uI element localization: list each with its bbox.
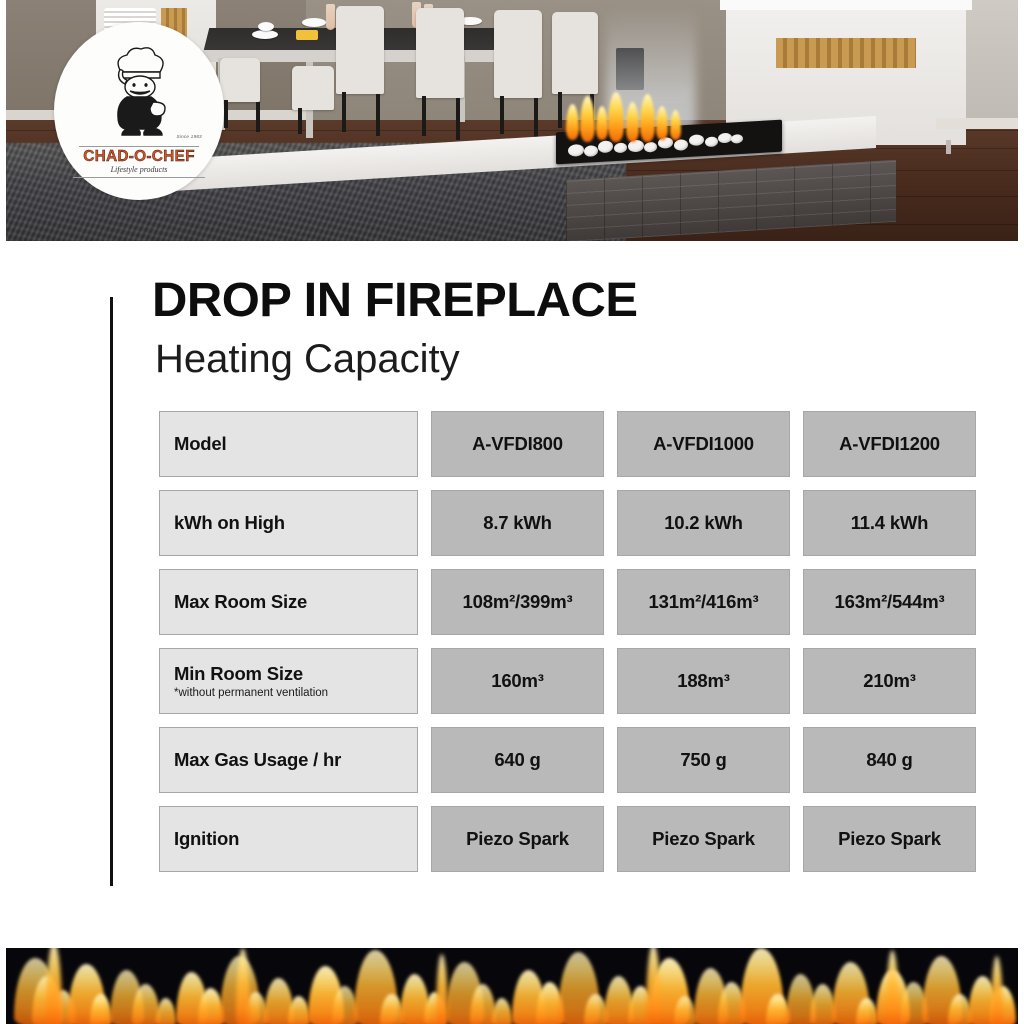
value-cell: 131m²/416m³ [617,569,790,635]
value-cell: Piezo Spark [431,806,604,872]
row-label-cell: Max Room Size [159,569,418,635]
dining-chair [220,58,260,102]
value-text: 10.2 kWh [664,512,743,534]
value-text: 8.7 kWh [483,512,552,534]
value-text: 131m²/416m³ [649,591,759,613]
champagne-glass [326,4,335,30]
bowl [258,22,274,31]
row-label-cell: Ignition [159,806,418,872]
row-label: kWh on High [174,512,285,534]
value-text: 163m²/544m³ [835,591,945,613]
value-text: A-VFDI800 [472,433,563,455]
dining-chair [292,66,334,110]
flame [436,954,448,1024]
row-label-cell: Min Room Size*without permanent ventilat… [159,648,418,714]
logo-since-text: Since 1983 [176,134,202,139]
row-label: Model [174,433,226,455]
left-accent-rule [110,297,113,886]
page-subtitle: Heating Capacity [155,337,460,381]
row-label-cell: kWh on High [159,490,418,556]
value-text: 840 g [866,749,912,771]
footer-flame-photo [6,948,1018,1024]
value-text: Piezo Spark [652,828,755,850]
value-cell: 163m²/544m³ [803,569,976,635]
product-spec-infographic: Since 1983 CHAD-O-CHEF Lifestyle product… [0,0,1024,1024]
plate [252,30,278,39]
table-row: kWh on High8.7 kWh10.2 kWh11.4 kWh [159,490,977,556]
logo-divider-bottom [73,177,205,178]
flame [886,950,899,1024]
flame [236,948,250,1024]
value-cell: 8.7 kWh [431,490,604,556]
wood-slat-panel-right [776,38,916,68]
table-row: ModelA-VFDI800A-VFDI1000A-VFDI1200 [159,411,977,477]
value-text: Piezo Spark [466,828,569,850]
value-text: 188m³ [677,670,729,692]
dining-chair [416,8,464,98]
hero-room-photo: Since 1983 CHAD-O-CHEF Lifestyle product… [6,0,1018,241]
skirting-board-right [936,118,1018,129]
value-text: A-VFDI1000 [653,433,754,455]
value-cell: Piezo Spark [617,806,790,872]
logo-tagline: Lifestyle products [111,165,168,174]
value-text: 210m³ [863,670,915,692]
value-cell: 11.4 kWh [803,490,976,556]
dining-chair [494,10,542,98]
value-cell: 108m²/399m³ [431,569,604,635]
food-plate [296,30,318,40]
chef-mascot-icon [91,46,187,142]
value-cell: A-VFDI800 [431,411,604,477]
value-text: A-VFDI1200 [839,433,940,455]
row-label: Min Room Size [174,663,303,685]
value-cell: 160m³ [431,648,604,714]
page-title: DROP IN FIREPLACE [152,277,638,325]
value-cell: 10.2 kWh [617,490,790,556]
logo-divider-top [79,146,199,147]
table-row: Max Gas Usage / hr640 g750 g840 g [159,727,977,793]
logo-wordmark: CHAD-O-CHEF [83,149,195,165]
value-cell: 210m³ [803,648,976,714]
flame [646,948,661,1024]
row-label: Max Gas Usage / hr [174,749,341,771]
dining-chair [336,6,384,94]
table-row: Max Room Size108m²/399m³131m²/416m³163m²… [159,569,977,635]
row-label: Max Room Size [174,591,307,613]
value-text: Piezo Spark [838,828,941,850]
value-text: 640 g [494,749,540,771]
value-cell: 840 g [803,727,976,793]
value-text: 750 g [680,749,726,771]
value-cell: A-VFDI1000 [617,411,790,477]
sideboard-counter-top [720,0,972,10]
brand-logo-badge: Since 1983 CHAD-O-CHEF Lifestyle product… [54,22,224,200]
flame [46,948,62,1024]
dining-chair [552,12,598,94]
flame [991,956,1003,1024]
table-row: IgnitionPiezo SparkPiezo SparkPiezo Spar… [159,806,977,872]
row-label-cell: Max Gas Usage / hr [159,727,418,793]
value-text: 11.4 kWh [851,512,929,534]
heating-capacity-table: ModelA-VFDI800A-VFDI1000A-VFDI1200kWh on… [159,411,977,885]
plate [302,18,326,27]
value-cell: A-VFDI1200 [803,411,976,477]
value-text: 160m³ [491,670,543,692]
value-text: 108m²/399m³ [463,591,573,613]
row-sublabel: *without permanent ventilation [174,687,328,699]
value-cell: 188m³ [617,648,790,714]
value-cell: 640 g [431,727,604,793]
value-cell: Piezo Spark [803,806,976,872]
row-label: Ignition [174,828,239,850]
row-label-cell: Model [159,411,418,477]
value-cell: 750 g [617,727,790,793]
table-row: Min Room Size*without permanent ventilat… [159,648,977,714]
